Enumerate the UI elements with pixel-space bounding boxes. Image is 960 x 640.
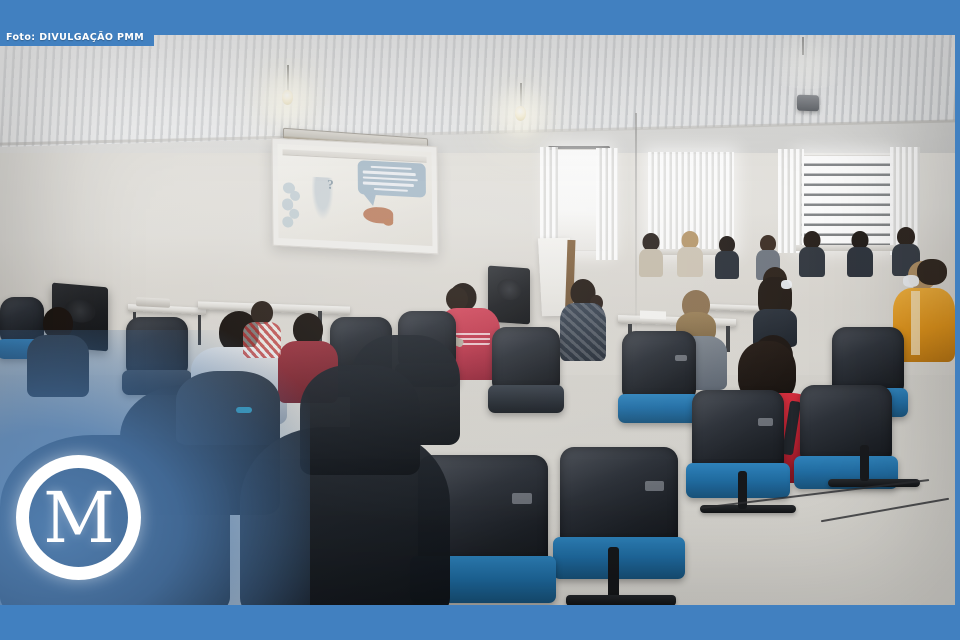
attendee bbox=[800, 231, 824, 275]
torso bbox=[243, 322, 281, 358]
chair-seat bbox=[553, 537, 685, 579]
chair-icon bbox=[126, 317, 188, 395]
attendee bbox=[245, 301, 279, 353]
chair-back bbox=[692, 390, 784, 470]
chair-label bbox=[512, 493, 533, 503]
chair-icon bbox=[492, 327, 560, 413]
bottom-border-bar bbox=[0, 605, 960, 640]
chair-back bbox=[560, 447, 678, 545]
speaker-box-icon bbox=[797, 95, 819, 112]
attendee bbox=[848, 231, 872, 275]
chair-label bbox=[675, 355, 687, 361]
photo-credit-caption: Foto: DIVULGAÇÃO PMM bbox=[0, 29, 154, 46]
projected-slide: ? bbox=[278, 144, 433, 246]
chair-seat bbox=[488, 385, 564, 413]
head bbox=[251, 301, 273, 324]
bulb-glow bbox=[252, 63, 324, 125]
foreground-attendee bbox=[176, 371, 280, 445]
question-mark-icon: ? bbox=[327, 177, 334, 193]
chair-leg bbox=[860, 445, 869, 481]
chair-label bbox=[758, 418, 773, 426]
torso bbox=[799, 247, 825, 277]
papers-on-table bbox=[640, 311, 666, 320]
slide-illustration bbox=[383, 218, 394, 226]
right-border-bar bbox=[955, 0, 960, 640]
news-photo: ? bbox=[0, 35, 955, 605]
torso bbox=[639, 249, 663, 277]
chair-icon bbox=[560, 447, 678, 579]
torso bbox=[677, 247, 703, 277]
attendee bbox=[755, 267, 795, 341]
speaker-cone bbox=[497, 278, 521, 300]
torso bbox=[847, 247, 873, 277]
chair-seat bbox=[618, 394, 701, 423]
face-mask-icon bbox=[781, 280, 792, 289]
foreground-attendee bbox=[300, 365, 420, 475]
chair-icon bbox=[800, 385, 892, 489]
bubble-text-lines bbox=[363, 165, 420, 196]
projection-screen-icon: ? bbox=[271, 138, 438, 255]
attendee bbox=[716, 236, 738, 276]
bulb-glow bbox=[760, 35, 856, 89]
hair-accessory bbox=[236, 407, 252, 413]
chair-icon bbox=[622, 331, 696, 423]
attendee bbox=[562, 279, 604, 359]
attendee bbox=[640, 233, 662, 275]
chair-label bbox=[645, 481, 664, 490]
chair-back bbox=[492, 327, 560, 391]
equipment-on-table bbox=[136, 297, 170, 308]
photo-frame: ? bbox=[0, 0, 960, 640]
window-curtain bbox=[596, 148, 618, 260]
chair-back bbox=[126, 317, 188, 375]
attendee bbox=[678, 231, 702, 275]
bulb-glow bbox=[486, 79, 554, 137]
vest-trim bbox=[911, 291, 920, 355]
attendee bbox=[30, 307, 86, 393]
watermark-logo: M bbox=[16, 455, 141, 580]
chair-back bbox=[622, 331, 696, 399]
watermark-letter: M bbox=[43, 483, 114, 553]
slide-toolbar bbox=[283, 149, 427, 163]
torso bbox=[560, 303, 606, 361]
torso bbox=[27, 335, 89, 397]
speech-bubble bbox=[358, 160, 426, 197]
chair-base bbox=[566, 595, 676, 605]
face-mask-icon bbox=[903, 275, 919, 287]
chair-back bbox=[800, 385, 892, 462]
slide-decoration bbox=[281, 180, 308, 233]
hair bbox=[917, 259, 947, 285]
torso bbox=[715, 251, 739, 279]
chair-leg bbox=[608, 547, 619, 601]
chair-back bbox=[832, 327, 904, 394]
